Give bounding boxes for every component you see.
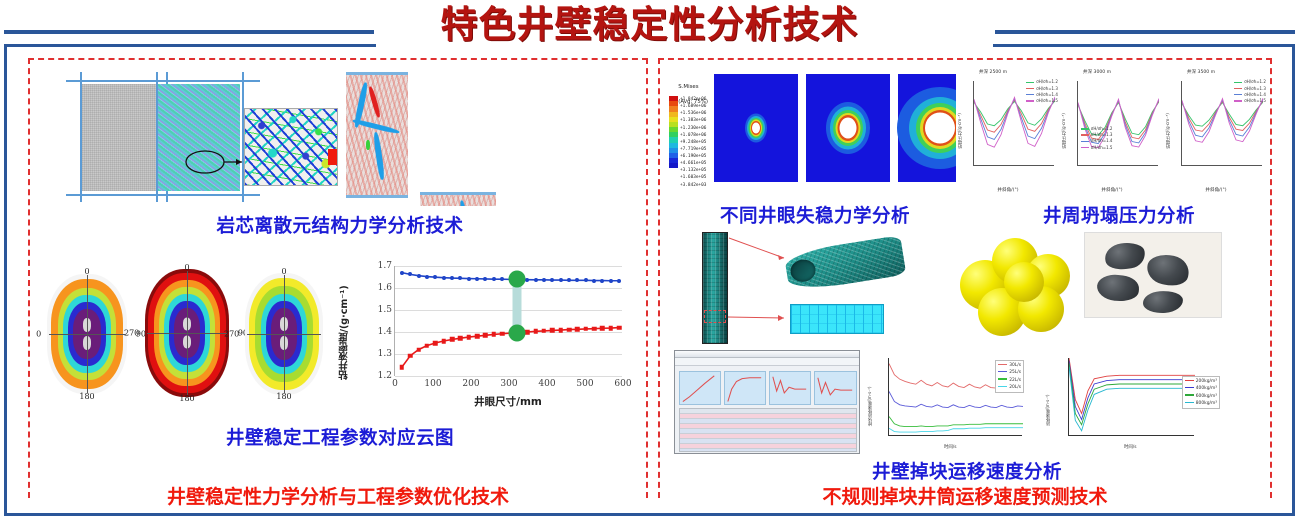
crack-branch	[366, 140, 370, 150]
chart-data-point	[575, 327, 580, 332]
polar-contour-plot: 0 90 180 270	[244, 270, 324, 398]
table-row[interactable]	[680, 449, 856, 452]
abaqus-color-legend	[669, 96, 678, 168]
chart-data-point	[400, 271, 404, 275]
figure-wellbore-mesh	[674, 228, 934, 348]
cylinder-mesh-texture	[703, 233, 727, 343]
app-mini-chart	[679, 371, 721, 405]
chart-legend: σH/σh=1.2σH/σh=1.3σH/σh=1.4σH/σh=1.5	[1026, 79, 1058, 104]
chart-y-axis-label: 坍塌压力/(g·cm⁻³)	[1061, 113, 1067, 149]
chart-plot-area	[1077, 81, 1158, 167]
figure-abaqus-smises: S.Mises (Avg: 75%) +1.842e+06 +1.689e+06…	[666, 66, 962, 196]
chart-mud-density-vs-hole-size: 钻井液密度/(g·cm⁻¹) 1.21.31.41.51.61.70100200…	[336, 256, 636, 412]
legend-item: 25L/s	[998, 369, 1021, 376]
rock-piece	[1096, 273, 1140, 303]
caption-transport-velocity: 井壁掉块运移速度分析	[660, 458, 1274, 484]
chart-data-point	[592, 326, 597, 331]
fracture-specimen	[420, 192, 496, 206]
chart-data-point	[584, 327, 589, 332]
chart-collapse-pressure-5m: 井深 2500 m井斜角/(°)坍塌压力/(g·cm⁻³)σH/σh=1.2σH…	[956, 68, 1060, 194]
abaqus-contour-panel	[806, 74, 890, 182]
force-chain-peak-marker	[328, 149, 337, 165]
chart-y-axis-label: 坍塌压力/(g·cm⁻³)	[1165, 113, 1171, 149]
chart-collapse-pressure-6m: 井深 3000 m井斜角/(°)坍塌压力/(g·cm⁻³)σH/σh=1.2σH…	[1060, 68, 1164, 194]
legend-item: 600kg/m³	[1185, 393, 1217, 400]
chart-data-point	[408, 354, 413, 359]
figure-rock-cuttings-photo	[1084, 232, 1222, 318]
wellbore-hole	[925, 113, 955, 144]
cuttings-sphere	[1004, 262, 1044, 302]
chart-data-point	[584, 278, 588, 282]
app-mini-chart	[724, 371, 766, 405]
legend-item: σH/σh=1.5	[1081, 145, 1113, 151]
legend-item: σH/σh=1.3	[1026, 86, 1058, 92]
chart-data-point	[425, 275, 429, 279]
chart-title: 井深 3000 m	[1083, 69, 1111, 75]
gray-core-sample	[82, 84, 164, 191]
chart-data-point	[492, 277, 496, 281]
caption-polar-contours: 井壁稳定工程参数对应云图	[30, 424, 650, 450]
chart-data-point	[558, 328, 563, 333]
legend-item: 400kg/m³	[1185, 385, 1217, 392]
figure-polar-contours: 0 90 180 270 0 90 180 270	[36, 256, 332, 408]
chart-data-point	[609, 279, 613, 283]
chart-data-point	[441, 339, 446, 344]
chart-data-point	[592, 279, 596, 283]
panel-right-footer: 不规则掉块井筒运移速度预测技术	[660, 485, 1270, 509]
legend-item: 800kg/m³	[1185, 400, 1217, 407]
specimen-cap	[346, 195, 408, 198]
chart-data-point	[475, 277, 479, 281]
chart-x-axis-label: 井斜角/(°)	[1205, 187, 1226, 193]
caption-collapse-pressure: 井周坍塌压力分析	[970, 202, 1268, 228]
chart-plot-area: 1.21.31.41.51.61.70100200300400500600	[394, 266, 622, 376]
chart-x-tick: 500	[576, 379, 593, 389]
chart-data-point	[417, 274, 421, 278]
page-title: 特色井壁稳定性分析技术	[0, 0, 1299, 50]
chart-title: 井深 3500 m	[1187, 69, 1215, 75]
force-chain-network-inset	[244, 108, 338, 186]
chart-y-axis-label: 钻井液密度/(g·cm⁻¹)	[338, 264, 352, 380]
chart-data-point	[450, 276, 454, 280]
rock-piece	[1103, 240, 1146, 271]
wellbore-hole	[840, 118, 857, 139]
panel-left-footer: 井壁稳定性力学分析与工程参数优化技术	[30, 485, 646, 509]
polar-label-270: 270	[36, 330, 41, 339]
chart-data-point	[416, 347, 421, 352]
chart-x-axis-label: 时间/s	[1124, 444, 1137, 450]
chart-data-point	[542, 329, 547, 334]
polar-label-0: 0	[281, 267, 286, 276]
figure-core-dem	[38, 66, 338, 206]
app-mini-chart	[769, 371, 811, 405]
wellbore-cylinder	[702, 232, 728, 344]
polar-label-180: 180	[79, 392, 94, 401]
wellbore-hole	[752, 123, 760, 134]
chart-data-point	[408, 272, 412, 276]
polar-axis	[284, 275, 285, 393]
chart-y-axis-label: 坍塌压力/(g·cm⁻³)	[957, 113, 963, 149]
chart-legend: 30L/s25L/s22L/s20L/s	[995, 360, 1024, 393]
polar-label-180: 180	[276, 392, 291, 401]
chart-x-axis-label: 井斜角/(°)	[997, 187, 1018, 193]
specimen-cap	[420, 192, 496, 195]
abaqus-legend-values: +1.842e+06 +1.689e+06 +1.536e+06 +1.383e…	[680, 96, 706, 189]
app-data-table[interactable]	[679, 408, 857, 452]
polar-label-0: 0	[184, 263, 189, 272]
chart-data-point	[442, 276, 446, 280]
legend-item: 22L/s	[998, 377, 1021, 384]
chart-data-point	[475, 334, 480, 339]
figure-fracture-specimens	[342, 64, 642, 206]
polar-axis	[187, 271, 188, 394]
chart-x-tick: 600	[614, 379, 631, 389]
chart-data-point	[617, 325, 622, 330]
wellbore-3d-mesh-detail	[784, 235, 907, 293]
chart-data-point	[533, 329, 538, 334]
legend-item: 20L/s	[998, 384, 1021, 391]
chart-x-tick: 200	[462, 379, 479, 389]
chart-data-point	[559, 278, 563, 282]
crack-branch	[368, 86, 382, 118]
chart-legend: 200kg/m³400kg/m³600kg/m³800kg/m³	[1182, 376, 1220, 409]
chart-x-tick: 0	[392, 379, 398, 389]
polar-contour-plot: 0 90 180 270	[144, 266, 230, 400]
legend-item: σH/σh=1.4	[1234, 92, 1266, 98]
chart-x-axis-label: 井斜角/(°)	[1101, 187, 1122, 193]
polar-label-0: 0	[84, 267, 89, 276]
chart-data-point	[483, 333, 488, 338]
polar-axis	[87, 275, 88, 393]
chart-data-point	[425, 343, 430, 348]
chart-y-axis-label: 掉块运移速度/(m·s⁻¹)	[867, 364, 873, 426]
chart-data-point	[575, 278, 579, 282]
panel-wellbore-stability-mechanics: 岩芯离散元结构力学分析技术 0 90 180 270	[28, 58, 648, 498]
chart-y-tick: 1.7	[378, 261, 392, 271]
chart-title: 井深 2500 m	[979, 69, 1007, 75]
chart-velocity-rise-comparison: 200kg/m³400kg/m³600kg/m³800kg/m³ 时间/s 运移…	[1042, 350, 1222, 452]
chart-plot-area	[1068, 358, 1194, 436]
chart-x-tick: 100	[424, 379, 441, 389]
chart-x-axis-label: 井眼尺寸/mm	[474, 394, 542, 409]
panel-cuttings-transport-prediction: S.Mises (Avg: 75%) +1.842e+06 +1.689e+06…	[658, 58, 1272, 498]
chart-x-tick: 400	[538, 379, 555, 389]
fracture-specimen	[346, 72, 408, 198]
chart-data-point	[467, 277, 471, 281]
chart-data-point	[600, 279, 604, 283]
mesh-detail-marker	[704, 310, 726, 323]
legend-item: σH/σh=1.5	[1026, 98, 1058, 104]
chart-data-point	[433, 275, 437, 279]
chart-y-tick: 1.2	[378, 371, 392, 381]
chart-series-layer	[1069, 358, 1195, 436]
chart-data-point	[617, 279, 621, 283]
chart-data-point	[492, 332, 497, 337]
figure-cuttings-particle-model	[948, 226, 1084, 348]
chart-collapse-pressure-7m: 井深 3500 m井斜角/(°)坍塌压力/(g·cm⁻³)σH/σh=1.2σH…	[1164, 68, 1268, 194]
chart-y-tick: 1.6	[378, 283, 392, 293]
polar-label-270: 270	[124, 329, 139, 338]
legend-item: σH/σh=1.4	[1026, 92, 1058, 98]
legend-item: 200kg/m³	[1185, 378, 1217, 385]
chart-data-point	[534, 278, 538, 282]
specimen-cap	[346, 72, 408, 75]
app-mini-chart	[814, 371, 857, 405]
polar-label-270: 270	[224, 330, 239, 339]
particle-core-sample	[158, 84, 240, 191]
chart-data-point	[483, 277, 487, 281]
rock-piece	[1144, 251, 1191, 289]
chart-data-point	[433, 341, 438, 346]
chart-data-point	[600, 326, 605, 331]
legend-item: 30L/s	[998, 362, 1021, 369]
chart-legend: σH/σh=1.2σH/σh=1.3σH/σh=1.4σH/σh=1.5	[1234, 79, 1266, 104]
chart-data-point	[550, 278, 554, 282]
crack-branch	[459, 200, 476, 206]
wellbore-bore-opening	[788, 258, 817, 284]
chart-data-point	[500, 332, 505, 337]
chart-data-point	[542, 278, 546, 282]
chart-y-tick: 1.5	[378, 305, 392, 315]
legend-item: σH/σh=1.5	[1234, 98, 1266, 104]
legend-item: σH/σh=1.3	[1234, 86, 1266, 92]
chart-highlight-marker	[509, 271, 526, 288]
chart-data-point	[500, 277, 504, 281]
chart-data-point	[400, 365, 405, 370]
chart-highlight-marker	[509, 324, 526, 341]
caption-core-dem: 岩芯离散元结构力学分析技术	[30, 212, 650, 238]
chart-x-tick: 300	[500, 379, 517, 389]
app-window-toolbar[interactable]	[675, 358, 859, 366]
rock-piece	[1142, 290, 1183, 315]
chart-y-axis-label: 运移速度/(m·s⁻¹)	[1045, 364, 1051, 426]
crack-branch	[373, 132, 386, 180]
chart-data-point	[567, 327, 572, 332]
legend-item: σH/σh=1.2	[1026, 79, 1058, 85]
chart-data-point	[450, 337, 455, 342]
chart-data-point	[466, 335, 471, 340]
chart-data-point	[458, 276, 462, 280]
legend-item: σH/σh=1.4	[1081, 138, 1113, 144]
abaqus-contour-panel	[898, 74, 962, 182]
chart-y-tick: 1.4	[378, 327, 392, 337]
chart-x-axis-label: 时间/s	[944, 444, 957, 450]
chart-legend: σH/σh=1.2σH/σh=1.3σH/σh=1.4σH/σh=1.5	[1081, 126, 1113, 151]
chart-cuttings-transport-velocity: 30L/s25L/s22L/s20L/s 时间/s 掉块运移速度/(m·s⁻¹)	[866, 350, 1030, 452]
wellbore-flat-mesh-detail	[790, 304, 884, 334]
chart-data-point	[567, 278, 571, 282]
chart-data-point	[550, 328, 555, 333]
legend-title-text: S.Mises	[678, 84, 698, 90]
chart-y-tick: 1.3	[378, 349, 392, 359]
polar-contour-plot: 0 90 180 270	[46, 270, 128, 398]
chart-data-point	[458, 336, 463, 341]
figure-transport-velocity-software	[674, 350, 860, 454]
legend-item: σH/σh=1.2	[1234, 79, 1266, 85]
chart-series-layer	[1078, 81, 1159, 167]
abaqus-contour-panel	[714, 74, 798, 182]
chart-data-point	[609, 326, 614, 331]
app-window-titlebar[interactable]	[675, 351, 859, 358]
polar-label-180: 180	[179, 394, 194, 403]
chart-gridline	[395, 376, 622, 377]
caption-abaqus: 不同井眼失稳力学分析	[670, 202, 960, 228]
